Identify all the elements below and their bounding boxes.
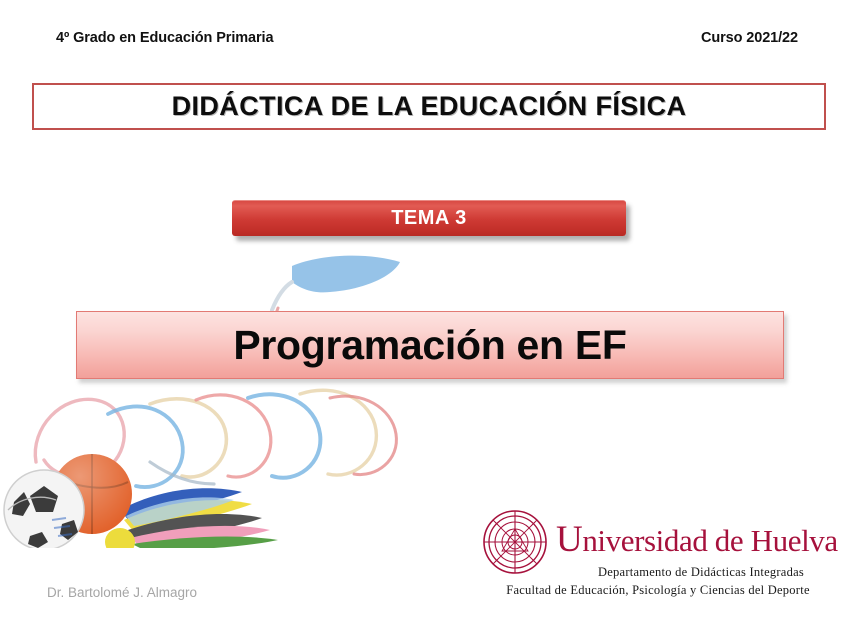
university-department-line: Departamento de Didácticas Integradas (478, 563, 838, 581)
university-faculty-line: Facultad de Educación, Psicología y Cien… (478, 581, 838, 599)
header-academic-year-label: Curso 2021/22 (701, 30, 798, 46)
slide-canvas: 4º Grado en Educación Primaria Curso 202… (0, 0, 848, 636)
course-title-text: DIDÁCTICA DE LA EDUCACIÓN FÍSICA (172, 91, 687, 122)
subject-title-box: Programación en EF (76, 311, 784, 379)
university-wordmark-initial: U (556, 519, 582, 560)
header-degree-label: 4º Grado en Educación Primaria (56, 30, 273, 46)
university-logo-row: Universidad de Huelva (478, 507, 838, 565)
slide-header: 4º Grado en Educación Primaria Curso 202… (56, 30, 798, 46)
subject-title-text: Programación en EF (233, 322, 626, 369)
author-credit: Dr. Bartolomé J. Almagro (47, 585, 197, 600)
tema-label: TEMA 3 (391, 207, 467, 230)
university-wordmark: Universidad de Huelva (556, 518, 838, 561)
sports-collage-illustration (0, 248, 430, 548)
course-title-box: DIDÁCTICA DE LA EDUCACIÓN FÍSICA (32, 83, 826, 130)
tema-banner: TEMA 3 (232, 200, 626, 236)
university-subtitle-lines: Departamento de Didácticas Integradas Fa… (478, 563, 838, 599)
university-logo-block: Universidad de Huelva Departamento de Di… (478, 507, 838, 615)
university-wordmark-rest: niversidad de Huelva (582, 523, 837, 558)
